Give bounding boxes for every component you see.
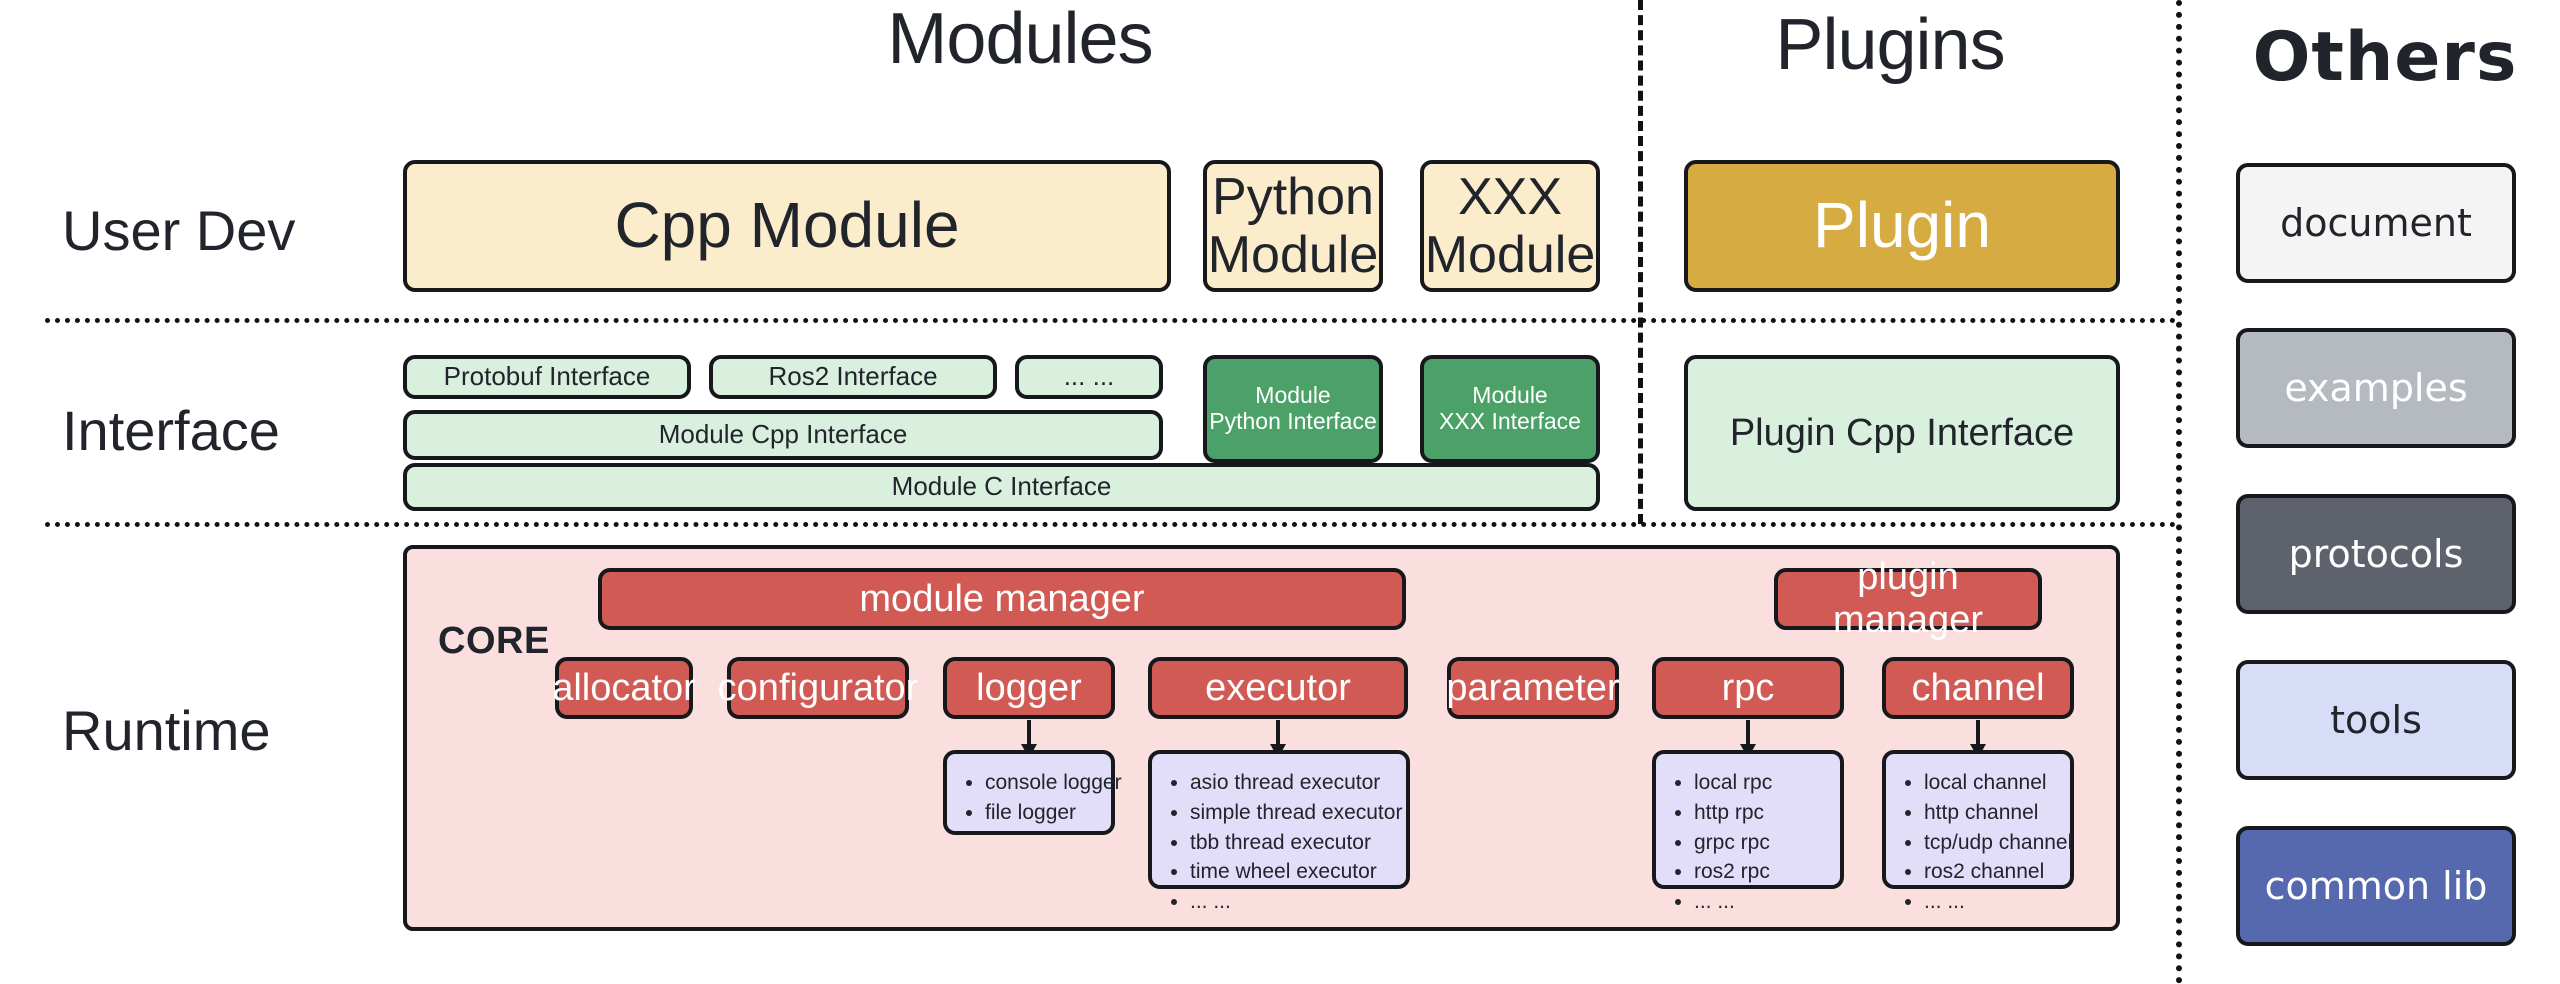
logger-sublist-box: console loggerfile logger	[943, 750, 1115, 835]
protobuf-interface-box[interactable]: Protobuf Interface	[403, 355, 691, 399]
module-c-interface-box[interactable]: Module C Interface	[403, 463, 1600, 511]
channel-sublist-box: local channelhttp channeltcp/udp channel…	[1882, 750, 2074, 889]
divider-interface-runtime	[45, 522, 2177, 527]
module-xxx-interface-label-line2: XXX Interface	[1439, 409, 1581, 435]
executor-sublist-box: asio thread executorsimple thread execut…	[1148, 750, 1410, 889]
list-item: http rpc	[1694, 798, 1830, 828]
row-title-user-dev: User Dev	[62, 198, 295, 263]
module-xxx-interface-label-line1: Module	[1472, 383, 1547, 409]
others-item-examples-label: examples	[2284, 367, 2467, 410]
divider-modules-plugins	[1638, 0, 1643, 524]
list-item: ... ...	[1694, 887, 1830, 917]
logger-box[interactable]: logger	[943, 657, 1115, 719]
list-item: ... ...	[1924, 887, 2060, 917]
module-python-interface-box[interactable]: Module Python Interface	[1203, 355, 1383, 463]
list-item: time wheel executor	[1190, 857, 1396, 887]
list-item: asio thread executor	[1190, 768, 1396, 798]
configurator-box[interactable]: configurator	[727, 657, 909, 719]
parameter-label: parameter	[1446, 667, 1619, 710]
python-module-label-line2: Module	[1208, 226, 1379, 284]
executor-sublist: asio thread executorsimple thread execut…	[1168, 768, 1396, 917]
xxx-module-label-line2: Module	[1425, 226, 1596, 284]
channel-sublist: local channelhttp channeltcp/udp channel…	[1902, 768, 2060, 917]
row-title-interface: Interface	[62, 398, 280, 463]
allocator-label: allocator	[552, 667, 696, 710]
others-item-common-lib-label: common lib	[2265, 865, 2488, 908]
logger-label: logger	[976, 667, 1082, 710]
xxx-module-box[interactable]: XXX Module	[1420, 160, 1600, 292]
python-module-box[interactable]: Python Module	[1203, 160, 1383, 292]
executor-label: executor	[1205, 667, 1351, 710]
list-item: console logger	[985, 768, 1101, 798]
list-item: file logger	[985, 798, 1101, 828]
module-python-interface-label-line2: Python Interface	[1209, 409, 1377, 435]
plugin-cpp-interface-box[interactable]: Plugin Cpp Interface	[1684, 355, 2120, 511]
protobuf-interface-label: Protobuf Interface	[444, 362, 651, 391]
others-item-protocols[interactable]: protocols	[2236, 494, 2516, 614]
rpc-box[interactable]: rpc	[1652, 657, 1844, 719]
executor-box[interactable]: executor	[1148, 657, 1408, 719]
divider-userdev-interface	[45, 318, 2177, 323]
rpc-label: rpc	[1722, 667, 1775, 710]
others-item-common-lib[interactable]: common lib	[2236, 826, 2516, 946]
python-module-label-line1: Python	[1212, 168, 1374, 226]
plugin-label: Plugin	[1813, 190, 1991, 262]
module-python-interface-label-line1: Module	[1255, 383, 1330, 409]
others-item-tools-label: tools	[2330, 699, 2422, 742]
parameter-box[interactable]: parameter	[1447, 657, 1619, 719]
channel-box[interactable]: channel	[1882, 657, 2074, 719]
others-item-protocols-label: protocols	[2289, 533, 2464, 576]
list-item: ros2 channel	[1924, 857, 2060, 887]
cpp-module-box[interactable]: Cpp Module	[403, 160, 1171, 292]
ros2-interface-label: Ros2 Interface	[768, 362, 937, 391]
logger-sublist: console loggerfile logger	[963, 768, 1101, 828]
module-xxx-interface-box[interactable]: Module XXX Interface	[1420, 355, 1600, 463]
list-item: tbb thread executor	[1190, 828, 1396, 858]
others-item-tools[interactable]: tools	[2236, 660, 2516, 780]
module-manager-box[interactable]: module manager	[598, 568, 1406, 630]
allocator-box[interactable]: allocator	[555, 657, 693, 719]
channel-label: channel	[1911, 667, 2044, 710]
list-item: tcp/udp channel	[1924, 828, 2060, 858]
plugin-manager-label: plugin manager	[1778, 556, 2038, 641]
module-cpp-interface-box[interactable]: Module Cpp Interface	[403, 410, 1163, 460]
others-item-document[interactable]: document	[2236, 163, 2516, 283]
list-item: simple thread executor	[1190, 798, 1396, 828]
plugin-box[interactable]: Plugin	[1684, 160, 2120, 292]
others-item-examples[interactable]: examples	[2236, 328, 2516, 448]
column-title-modules: Modules	[760, 0, 1280, 80]
more-interface-label: ... ...	[1064, 362, 1115, 391]
cpp-module-label: Cpp Module	[614, 190, 959, 262]
core-label: CORE	[438, 620, 550, 663]
list-item: local channel	[1924, 768, 2060, 798]
configurator-label: configurator	[718, 667, 919, 710]
rpc-sublist: local rpchttp rpcgrpc rpcros2 rpc... ...	[1672, 768, 1830, 917]
architecture-diagram: Modules Plugins Others User Dev Interfac…	[0, 0, 2560, 984]
divider-plugins-others	[2176, 0, 2182, 984]
plugin-cpp-interface-label: Plugin Cpp Interface	[1730, 412, 2074, 455]
list-item: local rpc	[1694, 768, 1830, 798]
module-cpp-interface-label: Module Cpp Interface	[659, 420, 908, 449]
ros2-interface-box[interactable]: Ros2 Interface	[709, 355, 997, 399]
module-manager-label: module manager	[859, 578, 1144, 621]
list-item: ... ...	[1190, 887, 1396, 917]
others-item-document-label: document	[2280, 202, 2472, 245]
module-c-interface-label: Module C Interface	[892, 472, 1112, 501]
column-title-others: Others	[2220, 18, 2550, 97]
column-title-plugins: Plugins	[1660, 4, 2120, 86]
list-item: grpc rpc	[1694, 828, 1830, 858]
more-interface-box[interactable]: ... ...	[1015, 355, 1163, 399]
rpc-sublist-box: local rpchttp rpcgrpc rpcros2 rpc... ...	[1652, 750, 1844, 889]
list-item: http channel	[1924, 798, 2060, 828]
xxx-module-label-line1: XXX	[1458, 168, 1562, 226]
row-title-runtime: Runtime	[62, 698, 271, 763]
plugin-manager-box[interactable]: plugin manager	[1774, 568, 2042, 630]
list-item: ros2 rpc	[1694, 857, 1830, 887]
